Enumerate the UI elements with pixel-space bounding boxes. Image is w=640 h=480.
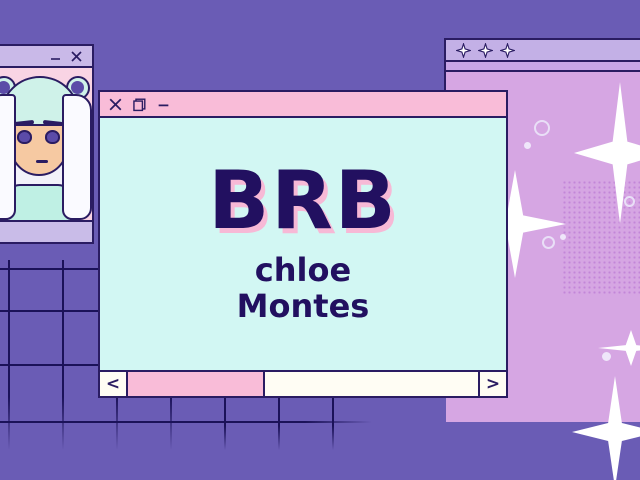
- character-art-window[interactable]: [0, 44, 94, 244]
- bubble-dot: [560, 234, 566, 240]
- brb-window-titlebar[interactable]: [100, 92, 506, 118]
- scroll-right-button[interactable]: >: [478, 372, 506, 396]
- horizontal-scrollbar[interactable]: < >: [100, 370, 506, 396]
- bubble-outline: [624, 196, 635, 207]
- sparkles-window-titlebar[interactable]: [446, 40, 640, 62]
- bubble-outline: [534, 120, 550, 136]
- brb-window-body: BRB chloe Montes: [100, 118, 506, 370]
- bear-ear-inner-right: [71, 81, 84, 94]
- bubble-dot: [524, 142, 531, 149]
- bubble-outline: [542, 236, 555, 249]
- sparkle-diamond-icon[interactable]: [500, 43, 515, 58]
- character-illustration: [0, 68, 92, 220]
- bubble-dot: [602, 352, 611, 361]
- sparkle-diamond-icon[interactable]: [478, 43, 493, 58]
- subtitle-line-2: Montes: [237, 289, 370, 325]
- minimize-icon[interactable]: [48, 49, 63, 64]
- brb-window[interactable]: BRB chloe Montes < >: [98, 90, 508, 398]
- eye-right: [45, 130, 60, 144]
- headline-brb: BRB: [208, 163, 398, 239]
- subtitle-line-1: chloe: [237, 253, 370, 289]
- character-window-titlebar[interactable]: [0, 46, 92, 68]
- sparkles-window-strip: [446, 62, 640, 72]
- eye-left: [17, 130, 32, 144]
- hair-front-right: [62, 94, 92, 220]
- maximize-icon[interactable]: [132, 97, 147, 112]
- scrollbar-track[interactable]: [128, 372, 478, 396]
- character-window-footer: [0, 220, 92, 242]
- close-icon[interactable]: [108, 97, 123, 112]
- sparkle-diamond-icon[interactable]: [456, 43, 471, 58]
- close-icon[interactable]: [69, 49, 84, 64]
- minimize-icon[interactable]: [156, 97, 171, 112]
- scrollbar-thumb[interactable]: [128, 372, 265, 396]
- desktop-canvas: BRB chloe Montes < >: [0, 0, 640, 480]
- mouth: [36, 160, 48, 163]
- subtitle-name: chloe Montes: [237, 253, 370, 325]
- hair-front-left: [0, 94, 16, 220]
- scroll-left-button[interactable]: <: [100, 372, 128, 396]
